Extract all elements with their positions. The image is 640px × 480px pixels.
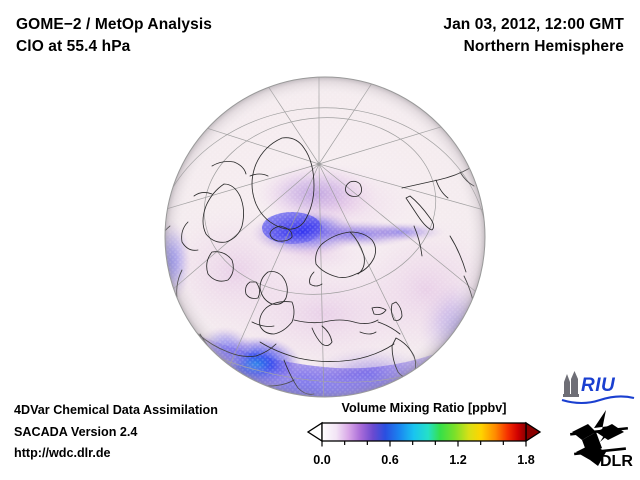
globe-map (164, 76, 486, 398)
species-level-title: ClO at 55.4 hPa (16, 36, 212, 58)
header-right: Jan 03, 2012, 12:00 GMT Northern Hemisph… (443, 14, 624, 58)
limb-shading (165, 77, 485, 397)
header-left: GOME−2 / MetOp Analysis ClO at 55.4 hPa (16, 14, 212, 58)
method-label: 4DVar Chemical Data Assimilation (14, 400, 218, 422)
north-pole-marker (317, 162, 320, 165)
colorbar: Volume Mixing Ratio [ppbv] 0.00.61.21.8 (306, 400, 542, 471)
globe-data-layer (164, 76, 486, 398)
colorbar-title: Volume Mixing Ratio [ppbv] (306, 400, 542, 417)
riu-logo: RIU (560, 370, 636, 406)
colorbar-tick-label: 0.0 (313, 453, 331, 467)
colorbar-scale (306, 421, 542, 447)
colorbar-tick-label: 0.6 (381, 453, 399, 467)
riu-wordmark: RIU (581, 375, 616, 396)
riu-wave-icon (562, 396, 634, 403)
colorbar-gradient-bar (322, 423, 526, 441)
colorbar-ticks (322, 441, 526, 447)
hemisphere-label: Northern Hemisphere (443, 36, 624, 58)
colorbar-under-arrow (308, 423, 322, 441)
colorbar-over-arrow (526, 423, 540, 441)
website-link[interactable]: http://wdc.dlr.de (14, 443, 218, 465)
version-label: SACADA Version 2.4 (14, 422, 218, 444)
colorbar-tick-label: 1.8 (517, 453, 535, 467)
dlr-wordmark: DLR (600, 453, 633, 470)
datetime-label: Jan 03, 2012, 12:00 GMT (443, 14, 624, 36)
colorbar-tick-label: 1.2 (449, 453, 467, 467)
dlr-logo: DLR (566, 408, 636, 470)
riu-spires-icon (563, 371, 579, 397)
colorbar-tick-labels: 0.00.61.21.8 (306, 453, 542, 471)
footer-left: 4DVar Chemical Data Assimilation SACADA … (14, 400, 218, 465)
visualization-page: GOME−2 / MetOp Analysis ClO at 55.4 hPa … (0, 0, 640, 480)
instrument-title: GOME−2 / MetOp Analysis (16, 14, 212, 36)
